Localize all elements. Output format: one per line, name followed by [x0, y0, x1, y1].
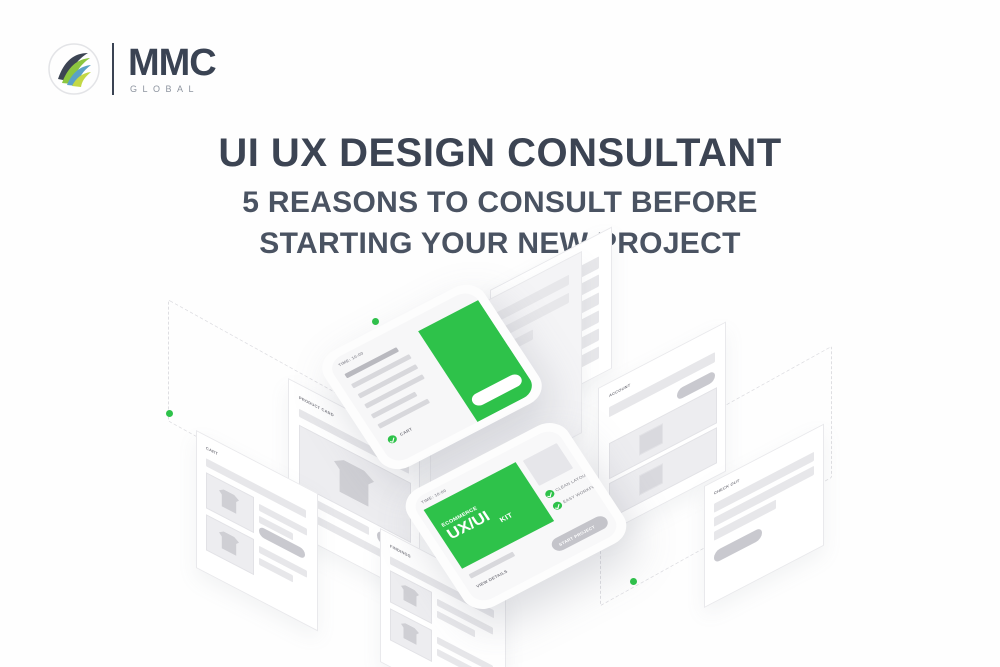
logo-divider [112, 43, 114, 95]
logo-mmc-text: MMC [128, 45, 216, 81]
page-title: UI UX DESIGN CONSULTANT [0, 130, 1000, 176]
phone-front-bullet-check-2 [551, 500, 563, 511]
accent-dot-bottom [630, 578, 637, 585]
logo-wordmark: MMC GLOBAL [128, 45, 216, 94]
wireframe-label: ACCOUNT [609, 382, 630, 398]
wireframe-label: FINDINGS [390, 543, 411, 559]
accent-dot-left [166, 410, 173, 417]
accent-dot-top [372, 318, 379, 325]
logo-global-text: GLOBAL [128, 84, 216, 94]
phone-front-bullet-check-1 [544, 488, 556, 499]
mmc-swirl-logo-icon [48, 43, 100, 95]
phone-back-cart-label: CART [399, 426, 414, 436]
page-subtitle-line1: 5 REASONS TO CONSULT BEFORE [0, 182, 1000, 223]
illustration: PRODUCT TYPES ACCOUNT [0, 270, 1000, 667]
poster-canvas: MMC GLOBAL UI UX DESIGN CONSULTANT 5 REA… [0, 0, 1000, 667]
page-subtitle-line2: STARTING YOUR NEW PROJECT [0, 223, 1000, 264]
isometric-scene: PRODUCT TYPES ACCOUNT [0, 270, 1000, 667]
heading-block: UI UX DESIGN CONSULTANT 5 REASONS TO CON… [0, 130, 1000, 264]
brand-logo[interactable]: MMC GLOBAL [48, 38, 216, 100]
wireframe-label: CART [206, 445, 218, 456]
